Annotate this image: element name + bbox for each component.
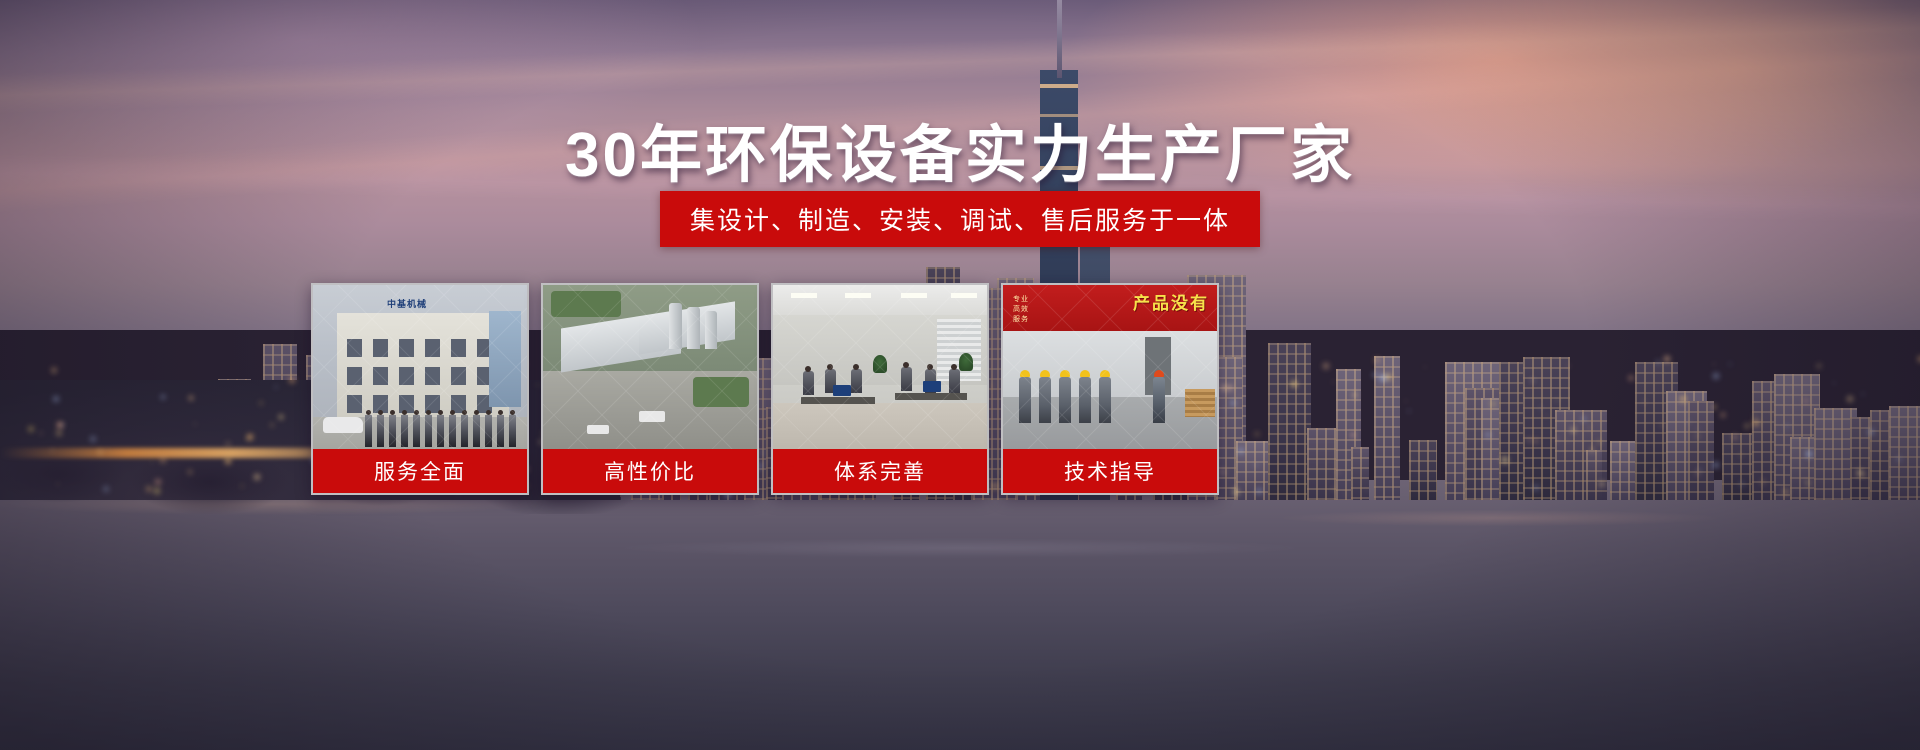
card-photo-office-meeting <box>773 285 987 453</box>
card-photo-office-building: 中基机械 <box>313 285 527 453</box>
building-window <box>373 367 388 385</box>
staff-member <box>389 415 396 447</box>
building-window <box>399 367 414 385</box>
building-window <box>451 339 466 357</box>
building-window <box>425 367 440 385</box>
banner-subtitle-bar: 集设计、制造、安装、调试、售后服务于一体 <box>660 191 1260 247</box>
staff-member <box>509 415 516 447</box>
staff-member <box>497 415 504 447</box>
feature-card-list: 中基机械 服务全面 <box>311 283 1609 495</box>
card-photo-industrial-plant <box>543 285 757 453</box>
building-window <box>347 339 362 357</box>
staff-member <box>461 415 468 447</box>
staff-member <box>473 415 480 447</box>
card-caption: 体系完善 <box>773 449 987 493</box>
building-window <box>347 395 362 413</box>
building-window <box>373 339 388 357</box>
card-photo-workshop-workers: 产品没有 专业高效服务 <box>1003 285 1217 453</box>
staff-member <box>485 415 492 447</box>
staff-member <box>437 415 444 447</box>
wall-banner-text: 产品没有 <box>1133 289 1209 314</box>
feature-card[interactable]: 高性价比 <box>541 283 759 495</box>
building-window <box>399 339 414 357</box>
staff-member <box>425 415 432 447</box>
staff-member <box>401 415 408 447</box>
banner-headline: 30年环保设备实力生产厂家 <box>0 104 1920 194</box>
building-window <box>451 367 466 385</box>
building-signage: 中基机械 <box>387 297 427 310</box>
feature-card[interactable]: 产品没有 专业高效服务 技术指导 <box>1001 283 1219 495</box>
staff-member <box>377 415 384 447</box>
card-caption: 技术指导 <box>1003 449 1217 493</box>
card-caption: 高性价比 <box>543 449 757 493</box>
staff-member <box>449 415 456 447</box>
building-window <box>347 367 362 385</box>
wall-banner-subtext: 专业高效服务 <box>1013 295 1029 325</box>
feature-card[interactable]: 体系完善 <box>771 283 989 495</box>
staff-member <box>365 415 372 447</box>
staff-member <box>413 415 420 447</box>
card-caption: 服务全面 <box>313 449 527 493</box>
hero-banner: 30年环保设备实力生产厂家 集设计、制造、安装、调试、售后服务于一体 中基机械 … <box>0 0 1920 750</box>
feature-card[interactable]: 中基机械 服务全面 <box>311 283 529 495</box>
building-window <box>425 339 440 357</box>
